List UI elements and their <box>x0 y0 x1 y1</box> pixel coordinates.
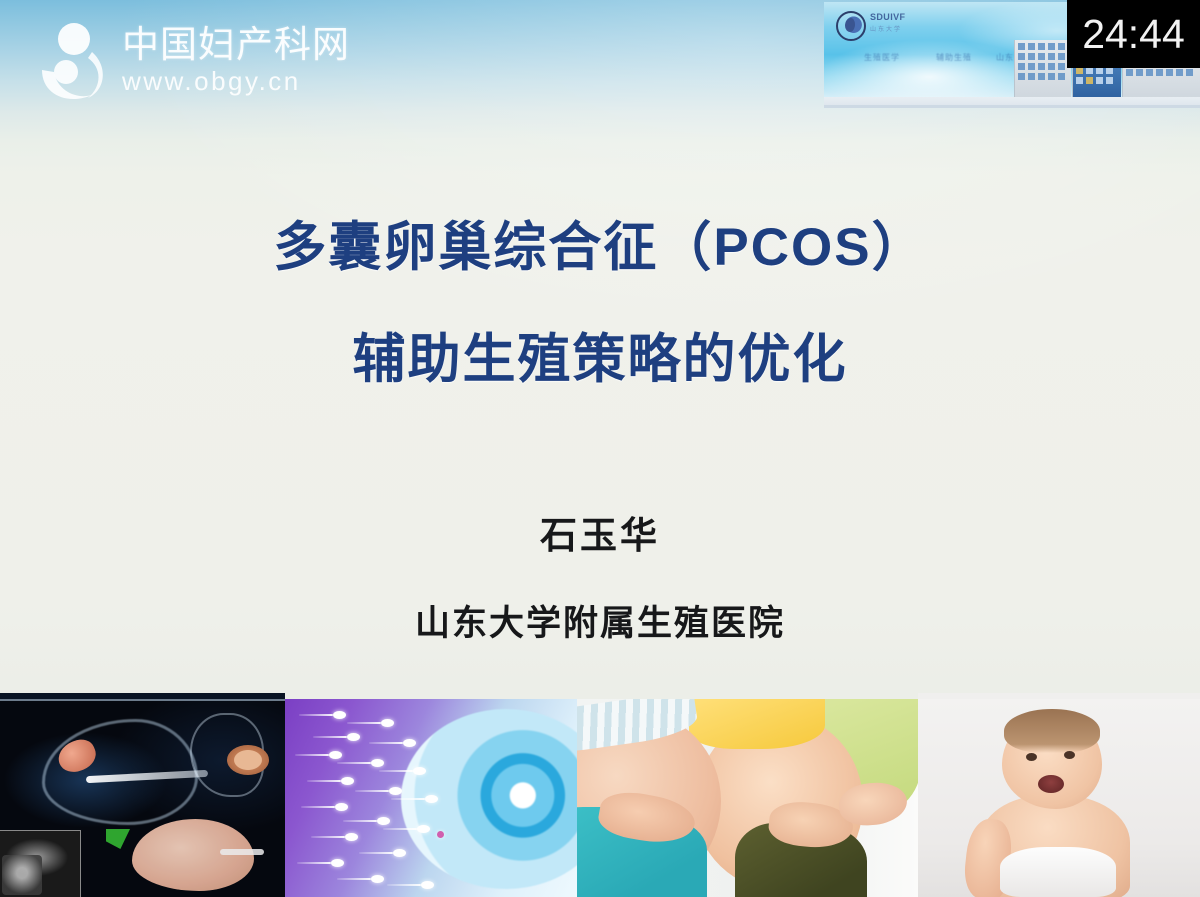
countdown-timer: 24:44 <box>1067 0 1200 68</box>
watermark-site-url: www.obgy.cn <box>122 66 362 96</box>
mother-and-child-icon <box>36 22 114 104</box>
countdown-timer-value: 24:44 <box>1082 14 1185 55</box>
pregnant-bellies-photo <box>577 693 918 897</box>
sperm-fertilizing-ovum-illustration <box>285 693 577 897</box>
pip-caption-a: 生殖医学 <box>864 52 900 63</box>
pip-brand-text: SDUIVF <box>870 12 905 22</box>
site-watermark: 中国妇产科网 www.obgy.cn <box>36 18 336 106</box>
oocyte-retrieval-illustration <box>0 693 285 897</box>
slide-photo-strip <box>0 693 1200 897</box>
presenter-info: 石玉华 山东大学附属生殖医院 <box>0 512 1200 646</box>
pip-caption-b: 辅助生殖 <box>936 52 972 63</box>
presenter-name: 石玉华 <box>0 512 1200 560</box>
pip-brand-subtext: 山东大学 <box>870 24 902 33</box>
watermark-site-name: 中国妇产科网 <box>122 24 362 66</box>
slide-title-line-1: 多囊卵巢综合征（PCOS） <box>0 192 1200 304</box>
slide-title-line-2: 辅助生殖策略的优化 <box>0 304 1200 416</box>
baby-photo <box>918 693 1200 897</box>
clinic-logo-icon <box>836 11 866 41</box>
presenter-organization: 山东大学附属生殖医院 <box>0 602 1200 646</box>
slide-title: 多囊卵巢综合征（PCOS） 辅助生殖策略的优化 <box>0 192 1200 416</box>
video-player-stage: 中国妇产科网 www.obgy.cn SDUIVF 山东大学 生殖医学 辅助生殖… <box>0 0 1200 897</box>
pip-base-strip <box>824 97 1200 105</box>
